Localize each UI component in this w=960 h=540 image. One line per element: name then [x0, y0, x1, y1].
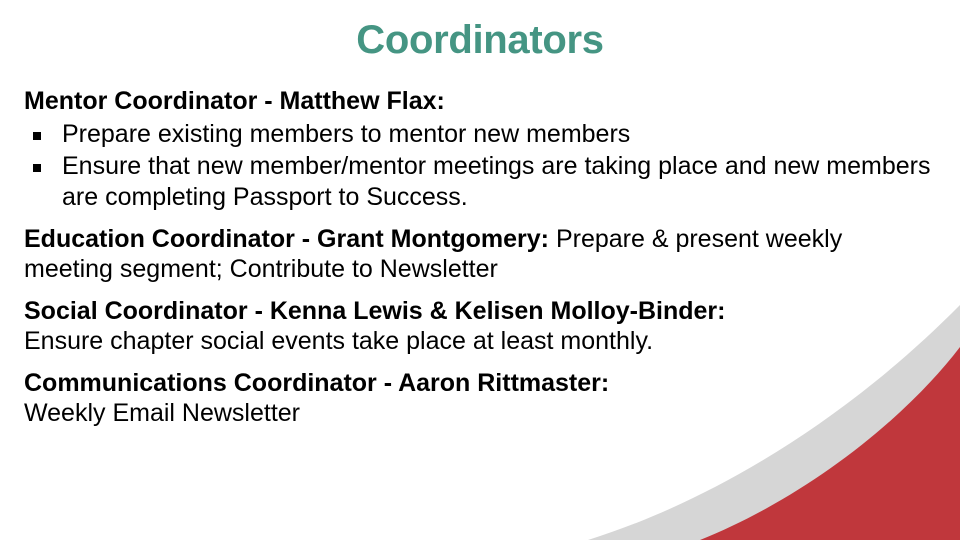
list-item: Ensure that new member/mentor meetings a…	[24, 151, 936, 213]
section-heading-line: Mentor Coordinator - Matthew Flax:	[24, 86, 936, 117]
section-heading-line: Communications Coordinator - Aaron Rittm…	[24, 368, 936, 429]
section-heading: Mentor Coordinator - Matthew Flax:	[24, 87, 445, 115]
page-title: Coordinators	[0, 18, 960, 62]
section-social-coordinator: Social Coordinator - Kenna Lewis & Kelis…	[24, 296, 936, 357]
square-bullet-icon	[33, 132, 41, 140]
section-heading: Social Coordinator - Kenna Lewis & Kelis…	[24, 297, 725, 325]
section-heading: Education Coordinator - Grant Montgomery…	[24, 225, 549, 253]
list-item-label: Prepare existing members to mentor new m…	[62, 120, 630, 148]
slide: Coordinators Mentor Coordinator - Matthe…	[0, 0, 960, 540]
section-body: Ensure chapter social events take place …	[24, 327, 653, 355]
square-bullet-icon	[33, 164, 41, 172]
section-communications-coordinator: Communications Coordinator - Aaron Rittm…	[24, 368, 936, 429]
section-education-coordinator: Education Coordinator - Grant Montgomery…	[24, 224, 936, 285]
slide-body: Mentor Coordinator - Matthew Flax: Prepa…	[24, 86, 936, 435]
list-item-label: Ensure that new member/mentor meetings a…	[62, 152, 930, 211]
section-heading-line: Social Coordinator - Kenna Lewis & Kelis…	[24, 296, 936, 357]
bullet-list-mentor: Prepare existing members to mentor new m…	[24, 119, 936, 213]
section-heading: Communications Coordinator - Aaron Rittm…	[24, 369, 609, 397]
section-body: Weekly Email Newsletter	[24, 399, 300, 427]
section-heading-line: Education Coordinator - Grant Montgomery…	[24, 224, 936, 285]
list-item: Prepare existing members to mentor new m…	[24, 119, 936, 150]
section-mentor-coordinator: Mentor Coordinator - Matthew Flax: Prepa…	[24, 86, 936, 213]
